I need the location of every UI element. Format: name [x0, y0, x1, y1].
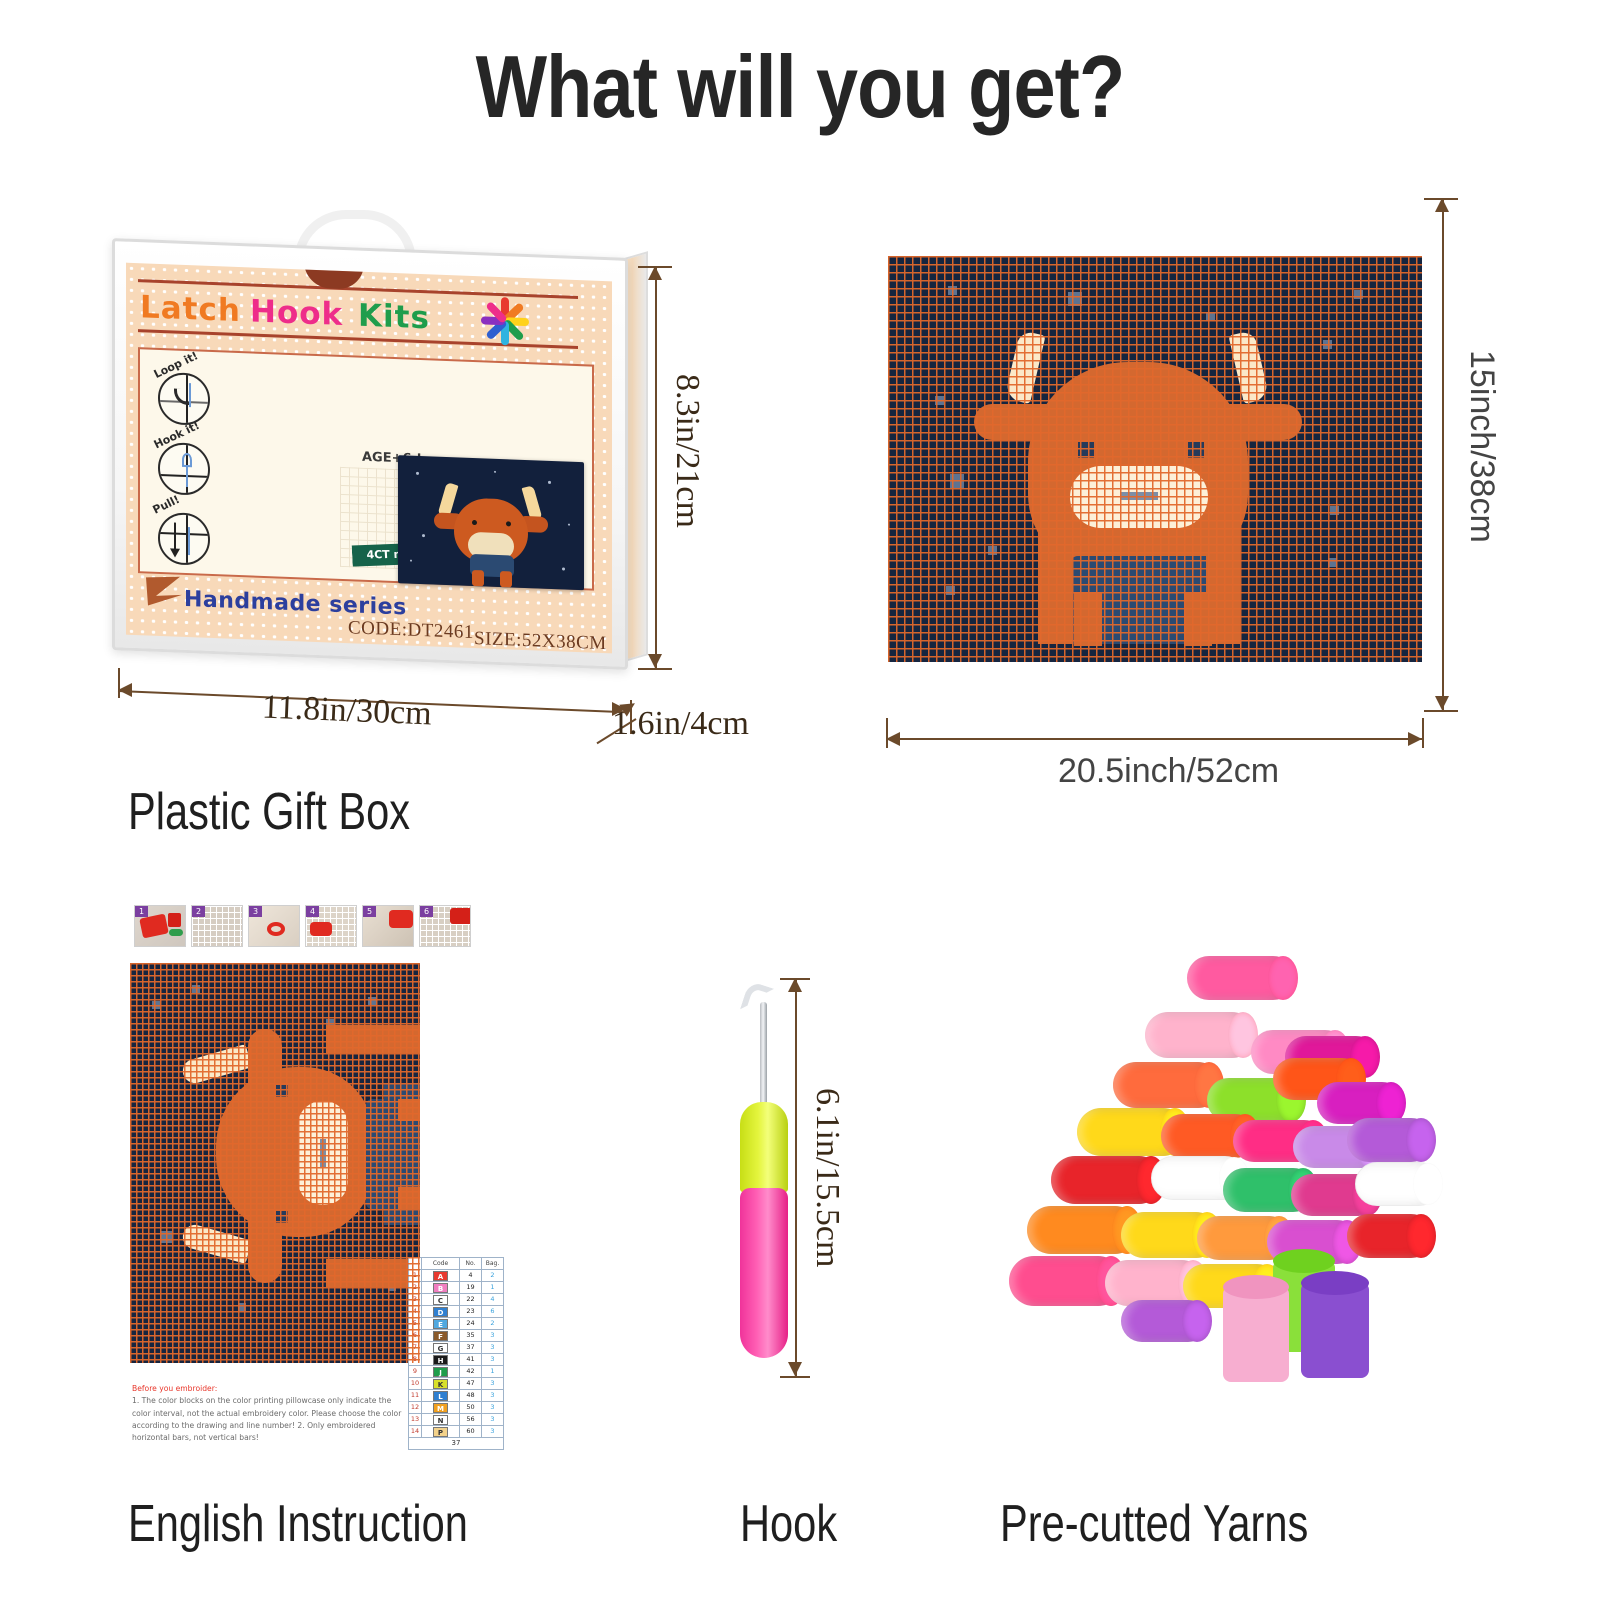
box-front-label: Latch Hook Kits Loop it! Hook it! — [126, 263, 612, 654]
legend-swatch: N — [433, 1415, 448, 1425]
legend-code-cell: A — [422, 1270, 460, 1282]
yarn-bundle — [1051, 1156, 1163, 1204]
hook-grip-upper — [740, 1102, 788, 1192]
legend-row: 8H413 — [409, 1354, 504, 1366]
legend-bag: 3 — [482, 1342, 504, 1354]
legend-swatch: A — [433, 1271, 448, 1281]
thumb-tag-4: 4 — [306, 906, 319, 917]
yarn-bundle — [1347, 1118, 1433, 1162]
legend-code-cell: F — [422, 1330, 460, 1342]
legend-bag: 6 — [482, 1306, 504, 1318]
legend-code-cell: P — [422, 1426, 460, 1438]
legend-number: 35 — [460, 1330, 482, 1342]
legend-swatch: C — [433, 1295, 448, 1305]
step-circle-loop — [158, 372, 210, 426]
yarn-bundle — [1113, 1062, 1221, 1108]
legend-row: 13N563 — [409, 1414, 504, 1426]
legend-row: 1A42 — [409, 1270, 504, 1282]
legend-swatch: B — [433, 1283, 448, 1293]
legend-th-no: No. — [460, 1258, 482, 1270]
legend-number: 23 — [460, 1306, 482, 1318]
legend-swatch: E — [433, 1319, 448, 1329]
legend-index: 4 — [409, 1306, 422, 1318]
legend-header-row: Code No. Bag. — [409, 1258, 504, 1270]
step-circle-pull — [158, 512, 210, 566]
yarn-bundle — [1355, 1162, 1441, 1206]
pre-cutted-yarns-image — [955, 930, 1455, 1400]
yarn-coil — [1301, 1282, 1369, 1378]
legend-index: 5 — [409, 1318, 422, 1330]
legend-number: 37 — [460, 1342, 482, 1354]
legend-code-cell: C — [422, 1294, 460, 1306]
legend-code-cell: B — [422, 1282, 460, 1294]
brand-word-latch: Latch — [140, 289, 241, 329]
thumbnail-1: 1 — [134, 905, 186, 947]
legend-code-cell: G — [422, 1342, 460, 1354]
color-legend-table: Code No. Bag. 1A422B1913C2244D2365E2426F… — [408, 1257, 504, 1450]
legend-index: 3 — [409, 1294, 422, 1306]
legend-number: 42 — [460, 1366, 482, 1378]
mesh-canvas-image — [888, 256, 1422, 662]
legend-bag: 1 — [482, 1282, 504, 1294]
thumbnail-5: 5 — [362, 905, 414, 947]
legend-bag: 2 — [482, 1318, 504, 1330]
thumb-tag-5: 5 — [363, 906, 376, 917]
instruction-chart — [130, 963, 420, 1363]
pinwheel-logo — [476, 292, 532, 350]
legend-code-cell: N — [422, 1414, 460, 1426]
legend-code-cell: L — [422, 1390, 460, 1402]
legend-swatch: D — [433, 1307, 448, 1317]
legend-bag: 3 — [482, 1390, 504, 1402]
legend-number: 48 — [460, 1390, 482, 1402]
legend-row: 4D236 — [409, 1306, 504, 1318]
thumb-tag-2: 2 — [192, 906, 205, 917]
thumb-tag-1: 1 — [135, 906, 148, 917]
hook-shaft — [760, 1002, 767, 1108]
legend-code-cell: M — [422, 1402, 460, 1414]
legend-number: 56 — [460, 1414, 482, 1426]
legend-number: 22 — [460, 1294, 482, 1306]
legend-row: 12M503 — [409, 1402, 504, 1414]
legend-row: 7G373 — [409, 1342, 504, 1354]
yarn-coil — [1223, 1286, 1289, 1382]
note-line-1: 1. The color blocks on the color printin… — [132, 1396, 376, 1405]
legend-row: 14P603 — [409, 1426, 504, 1438]
legend-index: 7 — [409, 1342, 422, 1354]
legend-swatch: F — [433, 1331, 448, 1341]
legend-number: 50 — [460, 1402, 482, 1414]
thumbnail-3: 3 — [248, 905, 300, 947]
legend-index: 8 — [409, 1354, 422, 1366]
legend-swatch: M — [433, 1403, 448, 1413]
legend-swatch: G — [433, 1343, 448, 1353]
legend-swatch: P — [433, 1427, 448, 1437]
legend-row: 3C224 — [409, 1294, 504, 1306]
yarn-bundle — [1145, 1012, 1255, 1058]
gift-box-caption: Plastic Gift Box — [128, 782, 410, 842]
hook-caption: Hook — [740, 1494, 837, 1554]
legend-row: 11L483 — [409, 1390, 504, 1402]
gift-box-image: Latch Hook Kits Loop it! Hook it! — [112, 210, 642, 675]
instruction-thumbnails: 1 2 3 4 5 6 — [134, 905, 471, 947]
yarn-bundle — [1187, 956, 1295, 1000]
box-inner-panel: Loop it! Hook it! Pull! — [138, 347, 594, 591]
thumb-tag-3: 3 — [249, 906, 262, 917]
step-circle-hook — [158, 442, 210, 496]
instruction-caption: English Instruction — [128, 1494, 468, 1554]
brand-word-hook: Hook — [250, 293, 343, 333]
legend-number: 24 — [460, 1318, 482, 1330]
legend-total: 37 — [409, 1438, 504, 1450]
legend-number: 41 — [460, 1354, 482, 1366]
legend-code-cell: H — [422, 1354, 460, 1366]
legend-index: 1 — [409, 1270, 422, 1282]
legend-code-cell: J — [422, 1366, 460, 1378]
legend-bag: 3 — [482, 1402, 504, 1414]
legend-th-idx — [409, 1258, 422, 1270]
legend-swatch: L — [433, 1391, 448, 1401]
legend-swatch: H — [433, 1355, 448, 1365]
legend-th-bag: Bag. — [482, 1258, 504, 1270]
thumbnail-4: 4 — [305, 905, 357, 947]
legend-number: 47 — [460, 1378, 482, 1390]
legend-bag: 4 — [482, 1294, 504, 1306]
legend-swatch: K — [433, 1379, 448, 1389]
legend-index: 2 — [409, 1282, 422, 1294]
legend-bag: 2 — [482, 1270, 504, 1282]
page-title: What will you get? — [112, 36, 1488, 138]
legend-row: 9J421 — [409, 1366, 504, 1378]
legend-bag: 3 — [482, 1414, 504, 1426]
thumbnail-2: 2 — [191, 905, 243, 947]
legend-index: 6 — [409, 1330, 422, 1342]
hook-tip — [740, 981, 774, 1018]
yarn-bundle — [1121, 1300, 1209, 1342]
legend-code-cell: E — [422, 1318, 460, 1330]
legend-row: 5E242 — [409, 1318, 504, 1330]
brand-word-kits: Kits — [358, 298, 430, 337]
hook-grip-lower — [740, 1188, 788, 1358]
legend-bag: 3 — [482, 1330, 504, 1342]
legend-number: 60 — [460, 1426, 482, 1438]
legend-bag: 3 — [482, 1378, 504, 1390]
legend-row: 10K473 — [409, 1378, 504, 1390]
legend-code-cell: K — [422, 1378, 460, 1390]
thumb-tag-6: 6 — [420, 906, 433, 917]
before-you-embroider-note: Before you embroider: 1. The color block… — [132, 1383, 412, 1444]
legend-row: 2B191 — [409, 1282, 504, 1294]
legend-th-code: Code — [422, 1258, 460, 1270]
note-heading: Before you embroider: — [132, 1383, 412, 1395]
finished-rug-photo — [398, 455, 584, 590]
series-label: Handmade series — [184, 587, 407, 621]
ribbon-z-icon — [142, 571, 186, 609]
legend-code-cell: D — [422, 1306, 460, 1318]
product-code: CODE:DT2461 — [348, 617, 474, 644]
english-instruction-image: 1 2 3 4 5 6 — [126, 905, 486, 1465]
yarns-caption: Pre-cutted Yarns — [1000, 1494, 1308, 1554]
legend-swatch: J — [433, 1367, 448, 1377]
legend-bag: 1 — [482, 1366, 504, 1378]
legend-row: 6F353 — [409, 1330, 504, 1342]
legend-number: 4 — [460, 1270, 482, 1282]
legend-number: 19 — [460, 1282, 482, 1294]
legend-bag: 3 — [482, 1426, 504, 1438]
yarn-bundle — [1347, 1214, 1433, 1258]
legend-index: 9 — [409, 1366, 422, 1378]
hook-image — [700, 960, 880, 1390]
thumbnail-6: 6 — [419, 905, 471, 947]
legend-bag: 3 — [482, 1354, 504, 1366]
